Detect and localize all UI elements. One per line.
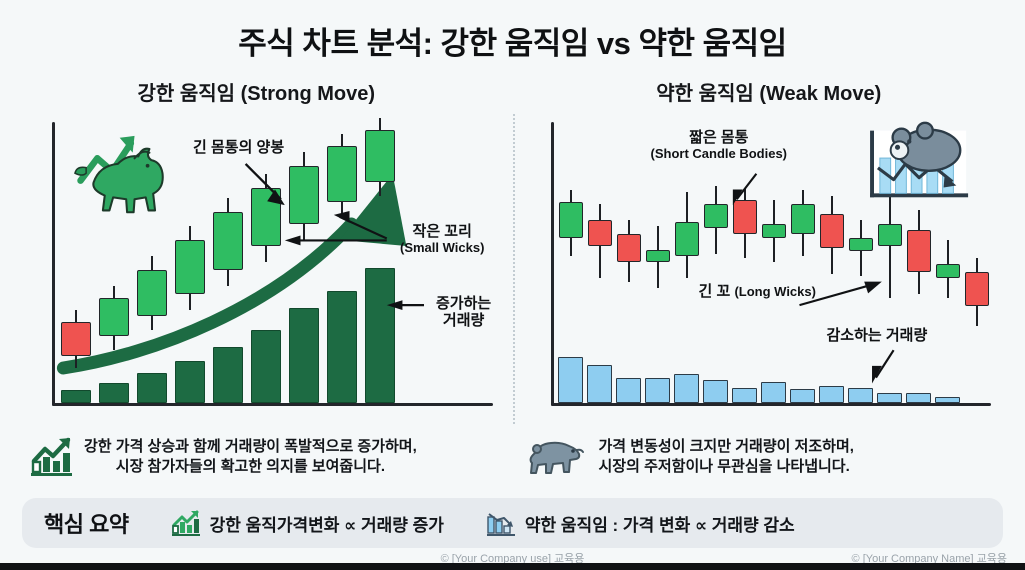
candlestick [175, 116, 205, 406]
candlestick [213, 116, 243, 406]
candlestick [289, 116, 319, 406]
caption-line-1: 가격 변동성이 크지만 거래량이 저조하며, [599, 437, 854, 457]
weak-move-panel: 짧은 몸통 (Short Candle Bodies) 긴 꼬 (Long Wi… [513, 106, 1012, 494]
candlestick [251, 116, 281, 406]
y-axis [551, 122, 554, 406]
bottom-bar [0, 563, 1025, 570]
caption-line-2: 시장 참가자들의 확고한 의지를 보여줍니다. [84, 457, 417, 477]
candlestick [365, 116, 395, 406]
weak-move-chart: 짧은 몸통 (Short Candle Bodies) 긴 꼬 (Long Wi… [527, 116, 998, 406]
candlestick [588, 116, 612, 406]
summary-label: 핵심 요약 [44, 507, 129, 539]
candlestick [936, 116, 960, 406]
annotation-long-body-label: 긴 몸통의 양봉 [193, 139, 284, 156]
candlestick [559, 116, 583, 406]
caption-line-2: 시장의 주저함이나 무관심을 나타냅니다. [599, 457, 854, 477]
annotation-long-body: 긴 몸통의 양봉 [193, 140, 284, 157]
annotation-short-bodies: 짧은 몸통 (Short Candle Bodies) [651, 130, 788, 161]
annotation-small-wicks-ko: 작은 꼬리 [400, 224, 484, 241]
candlestick [965, 116, 989, 406]
strong-move-panel: 긴 몸통의 양봉 작은 꼬리 (Small Wicks) [14, 106, 513, 494]
infographic-page: 주식 차트 분석: 강한 움직임 vs 약한 움직임 강한 움직임 (Stron… [0, 0, 1025, 570]
candlestick [61, 116, 91, 406]
weak-move-caption: 가격 변동성이 크지만 거래량이 저조하며, 시장의 주저함이나 무관심을 나타… [527, 426, 998, 488]
strong-move-caption: 강한 가격 상승과 함께 거래량이 폭발적으로 증가하며, 시장 참가자들의 확… [28, 426, 499, 488]
strong-move-chart: 긴 몸통의 양봉 작은 꼬리 (Small Wicks) [28, 116, 499, 406]
candlestick [327, 116, 357, 406]
page-title: 주식 차트 분석: 강한 움직임 vs 약한 움직임 [0, 18, 1025, 63]
candlestick [820, 116, 844, 406]
weak-move-caption-text: 가격 변동성이 크지만 거래량이 저조하며, 시장의 주저함이나 무관심을 나타… [599, 437, 854, 478]
annotation-volume-line2: 거래량 [436, 313, 491, 330]
annotation-decreasing-volume: 감소하는 거래량 [827, 328, 928, 345]
summary-strong-text: 강한 움직가격변화 ∝ 거래량 증가 [210, 511, 444, 536]
caption-line-1: 강한 가격 상승과 함께 거래량이 폭발적으로 증가하며, [84, 437, 417, 457]
summary-item-strong: 강한 움직가격변화 ∝ 거래량 증가 [171, 509, 444, 537]
y-axis [52, 122, 55, 406]
annotation-long-wicks-en: (Long Wicks) [734, 284, 816, 299]
annotation-increasing-volume: 증가하는 거래량 [436, 296, 491, 330]
annotation-volume-line1: 증가하는 [436, 296, 491, 313]
panel-headings: 강한 움직임 (Strong Move) 약한 움직임 (Weak Move) [0, 77, 1025, 106]
left-panel-heading: 강한 움직임 (Strong Move) [0, 77, 513, 106]
candlestick [791, 116, 815, 406]
summary-bar: 핵심 요약 강한 움직가격변화 ∝ 거래량 증가 [22, 498, 1003, 548]
summary-weak-text: 약한 움직임 : 가격 변화 ∝ 거래량 감소 [525, 511, 795, 536]
strong-move-caption-text: 강한 가격 상승과 함께 거래량이 폭발적으로 증가하며, 시장 참가자들의 확… [84, 437, 417, 478]
summary-item-weak: 약한 움직임 : 가격 변화 ∝ 거래량 감소 [486, 509, 795, 537]
right-panel-heading: 약한 움직임 (Weak Move) [513, 77, 1025, 106]
bear-walking-icon [527, 437, 587, 477]
candlestick [849, 116, 873, 406]
annotation-small-wicks: 작은 꼬리 (Small Wicks) [400, 224, 484, 255]
annotation-long-wicks: 긴 꼬 (Long Wicks) [699, 284, 816, 301]
candlestick [137, 116, 167, 406]
candlestick [907, 116, 931, 406]
candlestick [99, 116, 129, 406]
rising-bar-chart-icon [171, 509, 201, 537]
annotation-long-wicks-ko: 긴 꼬 [699, 283, 731, 300]
falling-bar-chart-icon [486, 509, 516, 537]
candlestick [617, 116, 641, 406]
rising-chart-icon [28, 435, 74, 479]
annotation-short-bodies-en: (Short Candle Bodies) [651, 147, 788, 162]
annotation-decreasing-volume-label: 감소하는 거래량 [827, 327, 928, 344]
charts-area: 긴 몸통의 양봉 작은 꼬리 (Small Wicks) [0, 106, 1025, 494]
annotation-small-wicks-en: (Small Wicks) [400, 241, 484, 256]
annotation-short-bodies-ko: 짧은 몸통 [651, 130, 788, 147]
candlestick [878, 116, 902, 406]
